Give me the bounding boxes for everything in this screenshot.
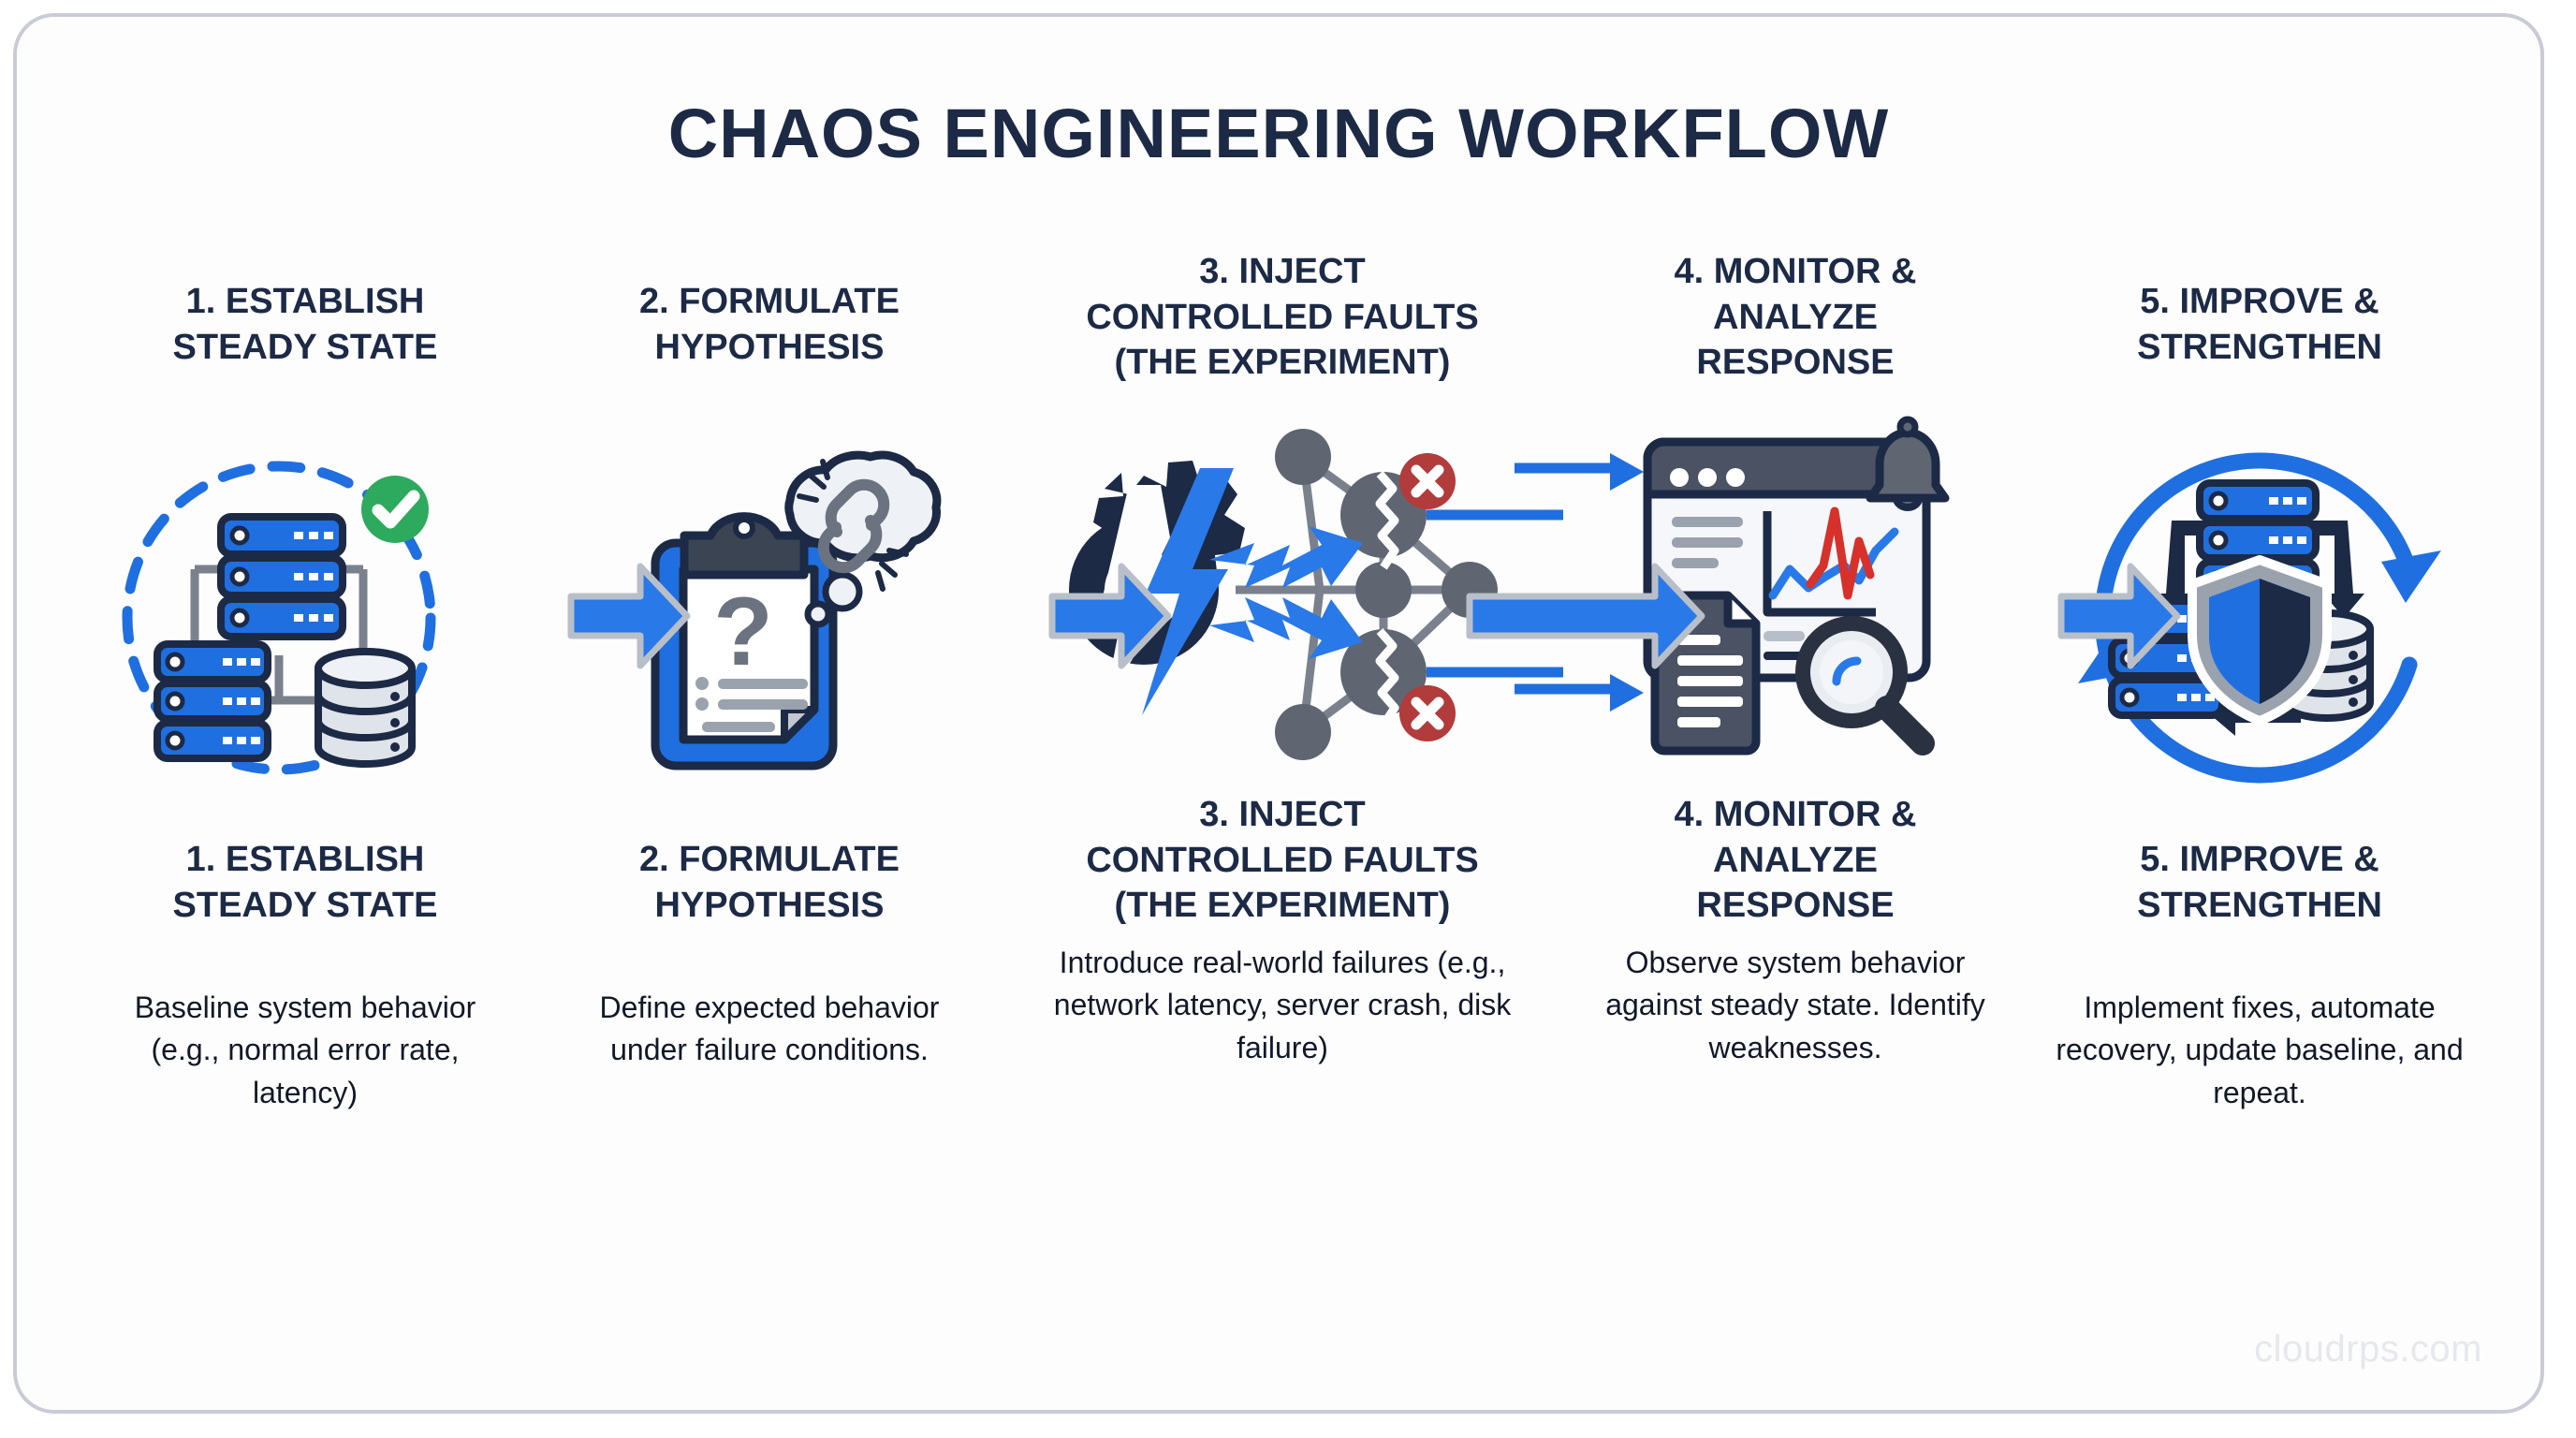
step-5-top-line1: 5. IMPROVE &: [2137, 279, 2382, 325]
step-3-top-line1: 3. INJECT: [1086, 249, 1478, 295]
document-icon: [1655, 595, 1756, 751]
page-title: CHAOS ENGINEERING WORKFLOW: [17, 94, 2540, 173]
step-4-caption: 4. MONITOR & ANALYZE RESPONSE: [1669, 792, 1923, 942]
step-2-caption-line1: 2. FORMULATE: [639, 837, 900, 883]
step-1-caption-line1: 1. ESTABLISH: [173, 837, 438, 883]
step-3-top-label: 3. INJECT CONTROLLED FAULTS (THE EXPERIM…: [1080, 249, 1484, 389]
step-4-top-line3: RESPONSE: [1675, 340, 1917, 386]
step-3-top-line2: CONTROLLED FAULTS: [1086, 295, 1478, 341]
step-2-caption-line2: HYPOTHESIS: [639, 883, 900, 929]
fault-arrow-bottom: [1209, 597, 1363, 659]
workflow-step-1: 1. ESTABLISH STEADY STATE: [73, 279, 537, 1114]
workflow-steps: 1. ESTABLISH STEADY STATE: [73, 279, 2492, 1114]
step-5-caption: 5. IMPROVE & STRENGTHEN: [2131, 837, 2388, 987]
step-2-caption: 2. FORMULATE HYPOTHESIS: [634, 837, 905, 987]
step-2-top-line1: 2. FORMULATE: [639, 279, 900, 325]
watermark: cloudrps.com: [2254, 1328, 2482, 1371]
svg-text:?: ?: [713, 578, 773, 686]
step-1-top-line1: 1. ESTABLISH: [173, 279, 438, 325]
step-4-top-label: 4. MONITOR & ANALYZE RESPONSE: [1669, 249, 1923, 389]
step-2-icon-wrap: ?: [537, 431, 1002, 805]
step-1-caption-line2: STEADY STATE: [173, 883, 438, 929]
step-5-top-label: 5. IMPROVE & STRENGTHEN: [2131, 279, 2388, 419]
step-2-top-line2: HYPOTHESIS: [639, 325, 900, 371]
gear-lightning-network-fault-icon: [1002, 391, 1563, 785]
step-1-top-line2: STEADY STATE: [173, 325, 438, 371]
network-node: [1355, 562, 1412, 618]
step-5-caption-line2: STRENGTHEN: [2137, 883, 2382, 929]
step-4-caption-line1: 4. MONITOR &: [1675, 792, 1917, 838]
check-circle-icon: [361, 476, 429, 543]
workflow-step-5: 5. IMPROVE & STRENGTHEN: [2027, 279, 2492, 1114]
step-2-description: Define expected behavior under failure c…: [537, 987, 1002, 1072]
step-4-caption-line2: ANALYZE: [1675, 838, 1917, 884]
step-3-icon-wrap: [1002, 401, 1563, 775]
step-4-description: Observe system behavior against steady s…: [1563, 942, 2027, 1069]
step-3-caption-line2: CONTROLLED FAULTS: [1086, 838, 1478, 884]
step-3-description: Introduce real-world failures (e.g., net…: [1002, 942, 1563, 1069]
step-3-caption: 3. INJECT CONTROLLED FAULTS (THE EXPERIM…: [1080, 792, 1484, 942]
step-5-top-line2: STRENGTHEN: [2137, 325, 2382, 371]
network-node: [1442, 562, 1498, 618]
network-node: [1275, 429, 1331, 485]
steady-state-servers-dashed-circle-check-icon: [109, 431, 502, 805]
step-1-icon-wrap: [73, 431, 537, 805]
step-5-description: Implement fixes, automate recovery, upda…: [2027, 987, 2492, 1114]
step-5-caption-line1: 5. IMPROVE &: [2137, 837, 2382, 883]
step-3-caption-line3: (THE EXPERIMENT): [1086, 883, 1478, 929]
step-4-top-line2: ANALYZE: [1675, 295, 1917, 341]
workflow-step-2: 2. FORMULATE HYPOTHESIS ?: [537, 279, 1002, 1072]
step-1-description: Baseline system behavior (e.g., normal e…: [73, 987, 537, 1114]
step-4-caption-line3: RESPONSE: [1675, 883, 1917, 929]
dashboard-chart-magnifier-bell-icon: [1589, 401, 2001, 775]
step-1-top-label: 1. ESTABLISH STEADY STATE: [168, 279, 444, 419]
diagram-card: CHAOS ENGINEERING WORKFLOW 1. ESTABLISH …: [13, 13, 2544, 1414]
step-3-caption-line1: 3. INJECT: [1086, 792, 1478, 838]
clipboard-question-thought-broken-link-icon: ?: [582, 431, 957, 805]
step-4-icon-wrap: [1563, 401, 2027, 775]
bell-icon: [1870, 419, 1945, 507]
step-3-top-line3: (THE EXPERIMENT): [1086, 340, 1478, 386]
step-2-top-label: 2. FORMULATE HYPOTHESIS: [634, 279, 905, 419]
step-4-top-line1: 4. MONITOR &: [1675, 249, 1917, 295]
workflow-step-3: 3. INJECT CONTROLLED FAULTS (THE EXPERIM…: [1002, 279, 1563, 1069]
step-5-icon-wrap: [2027, 431, 2492, 805]
network-node: [1275, 704, 1331, 760]
cycle-servers-shield-icon: [2072, 431, 2447, 805]
step-1-caption: 1. ESTABLISH STEADY STATE: [168, 837, 444, 987]
workflow-step-4: 4. MONITOR & ANALYZE RESPONSE: [1563, 279, 2027, 1069]
cracked-node-bottom: [1340, 629, 1456, 741]
database-icon: [318, 652, 412, 764]
